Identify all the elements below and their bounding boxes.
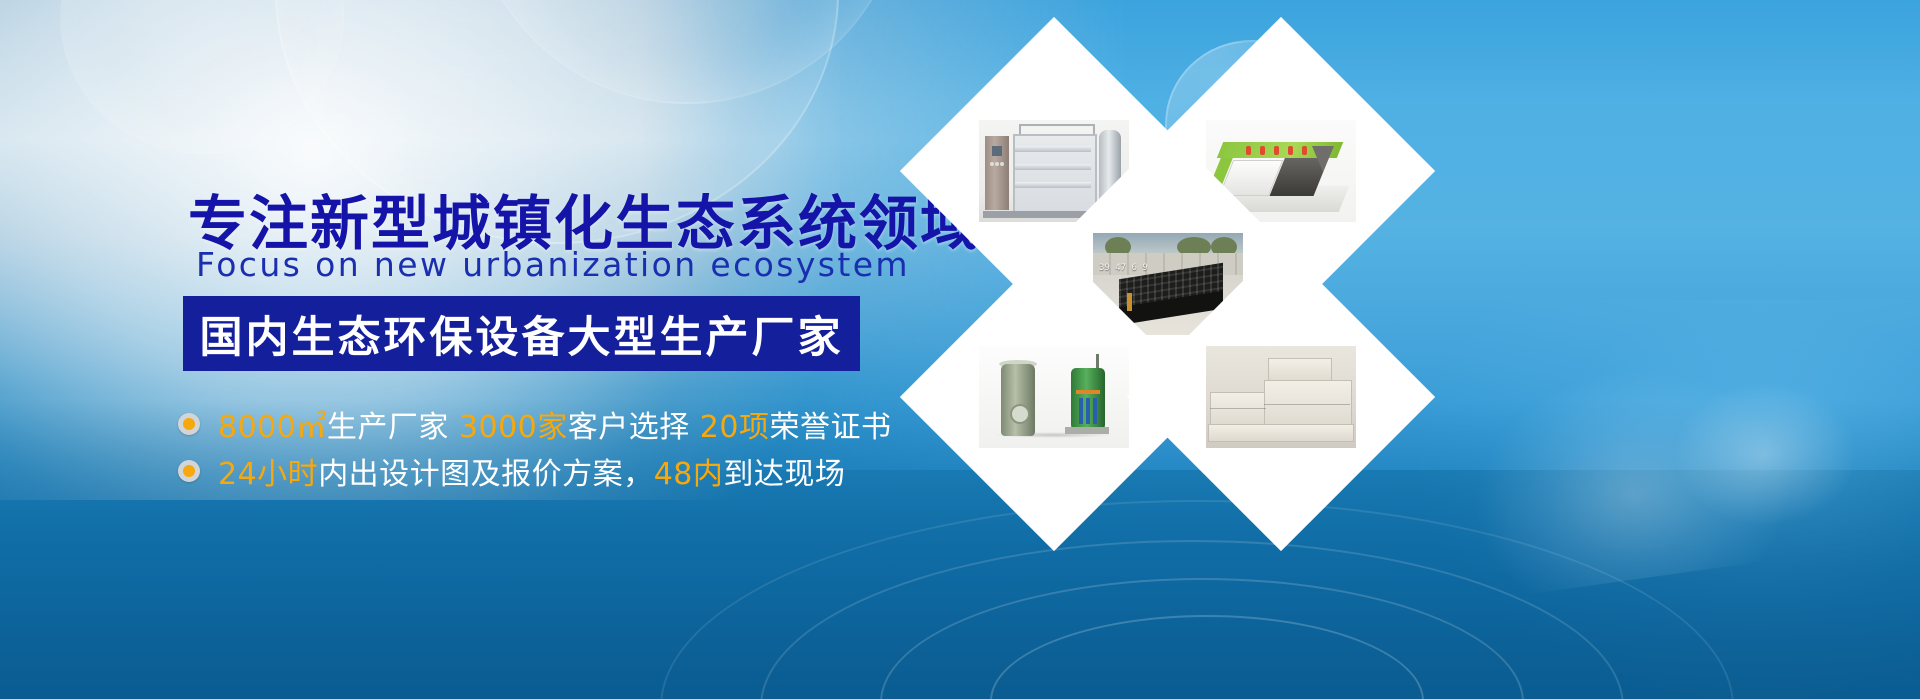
hero-banner: 专注新型城镇化生态系统领域 Focus on new urbanization … xyxy=(0,0,1920,699)
page-subtitle-english: Focus on new urbanization ecosystem xyxy=(196,245,910,284)
product-diamond-gallery: 39 47 6 9 xyxy=(905,52,1325,472)
orange-dot-icon xyxy=(178,460,200,482)
list-item: 8000㎡生产厂家 3000家客户选择 20项荣誉证书 xyxy=(178,400,918,447)
pump-station-image xyxy=(979,346,1129,448)
list-item: 24小时内出设计图及报价方案，48内到达现场 xyxy=(178,447,918,494)
panel-stack-image xyxy=(1206,346,1356,448)
list-item-label: 24小时内出设计图及报价方案，48内到达现场 xyxy=(218,449,845,493)
water-splash-icon xyxy=(1670,379,1860,529)
feature-bullet-list: 8000㎡生产厂家 3000家客户选择 20项荣誉证书 24小时内出设计图及报价… xyxy=(178,400,918,494)
orange-dot-icon xyxy=(178,413,200,435)
highlight-badge: 国内生态环保设备大型生产厂家 xyxy=(183,296,860,371)
banner-copy-block: 专注新型城镇化生态系统领域 Focus on new urbanization … xyxy=(0,0,920,699)
highlight-badge-label: 国内生态环保设备大型生产厂家 xyxy=(200,303,844,365)
list-item-label: 8000㎡生产厂家 3000家客户选择 20项荣誉证书 xyxy=(218,402,891,446)
tile-overlay-text: 39 47 6 9 xyxy=(1099,263,1148,273)
